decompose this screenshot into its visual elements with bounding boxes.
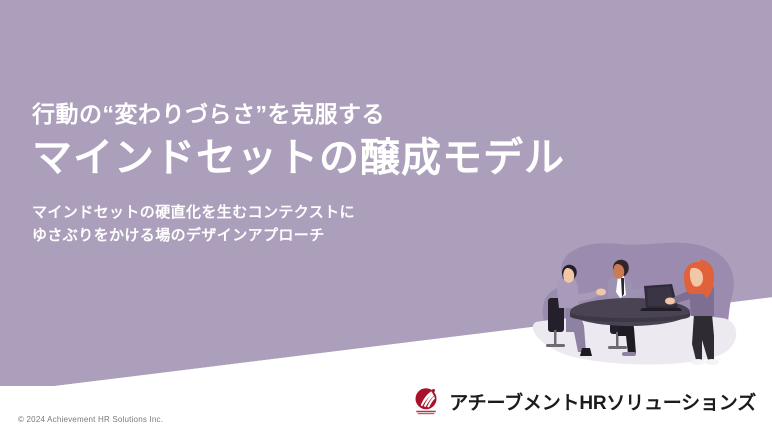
three-people-meeting-illustration	[526, 240, 758, 368]
eyebrow-text: 行動の“変わりづらさ”を克服する	[32, 100, 502, 129]
page-title: マインドセットの醸成モデル	[32, 135, 502, 181]
copyright-text: © 2024 Achievement HR Solutions Inc.	[18, 415, 163, 424]
subtitle-list: マインドセットの硬直化を生むコンテクストに ゆさぶりをかける場のデザインアプロー…	[32, 201, 502, 248]
title-block: 行動の“変わりづらさ”を克服する マインドセットの醸成モデル マインドセットの硬…	[32, 100, 502, 247]
brand-name-text: アチーブメントHRソリューションズ	[449, 388, 756, 415]
achievement-logo-icon	[411, 386, 441, 416]
slide-canvas: 行動の“変わりづらさ”を克服する マインドセットの醸成モデル マインドセットの硬…	[0, 0, 772, 434]
subtitle-line-2: ゆさぶりをかける場のデザインアプローチ	[32, 224, 502, 247]
subtitle-line-1: マインドセットの硬直化を生むコンテクストに	[32, 201, 502, 224]
brand-lockup: アチーブメントHRソリューションズ	[411, 386, 756, 416]
